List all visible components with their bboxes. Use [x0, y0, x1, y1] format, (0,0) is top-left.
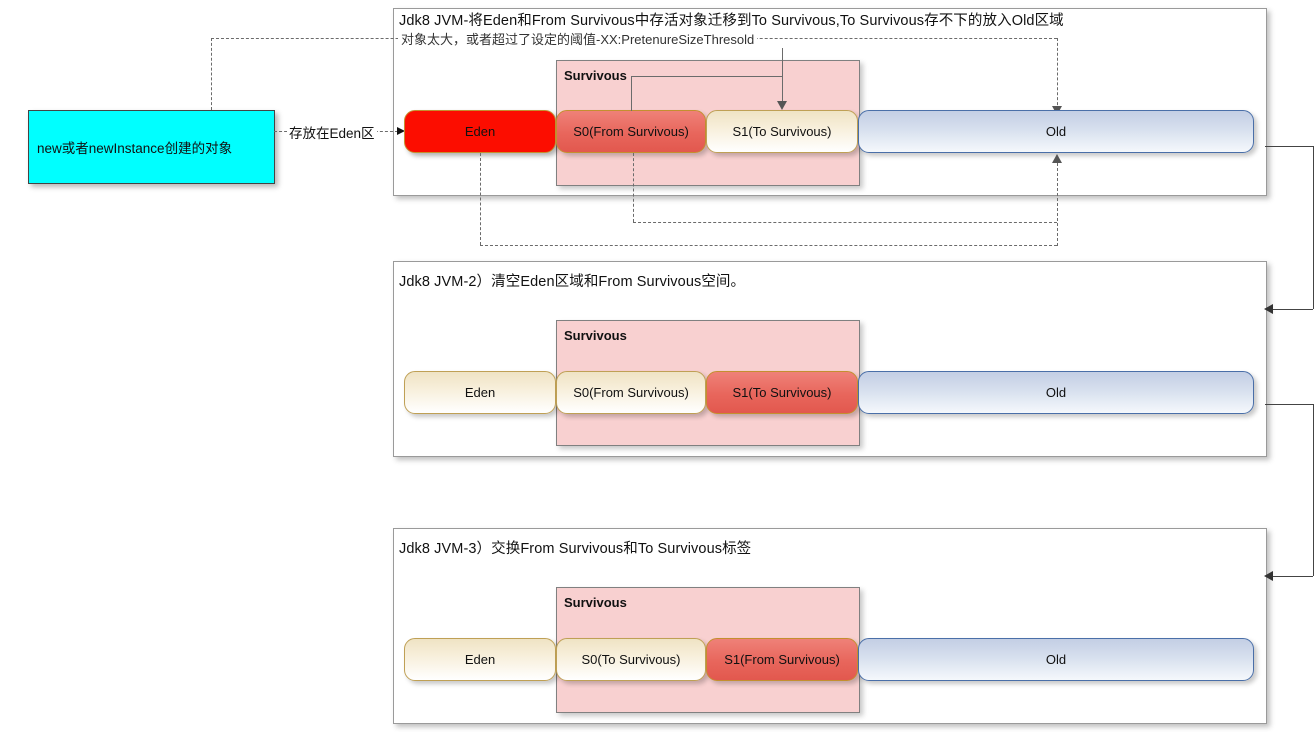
region-s0-1-label: S0(From Survivous) [573, 124, 689, 139]
region-eden-3-label: Eden [465, 652, 495, 667]
s0-overflow-horizontal [633, 222, 1057, 223]
region-old-2-label: Old [1046, 385, 1066, 400]
region-old-3: Old [858, 638, 1254, 681]
region-eden-3: Eden [404, 638, 556, 681]
s0-to-s1-riser [631, 76, 632, 111]
source-to-eden-label: 存放在Eden区 [287, 122, 377, 142]
step2-to-step3-riser [1313, 404, 1314, 576]
survivous-label-2: Survivous [564, 328, 627, 343]
region-s0-3-label: S0(To Survivous) [582, 652, 681, 667]
region-eden-1: Eden [404, 110, 556, 153]
source-object-box: new或者newInstance创建的对象 [28, 110, 275, 184]
region-s1-2: S1(To Survivous) [706, 371, 858, 414]
s0-overflow-vertical [633, 153, 634, 222]
region-old-1: Old [858, 110, 1254, 153]
panel-3-title: Jdk8 JVM-3）交换From Survivous和To Survivous… [399, 537, 751, 558]
panel-1-title: Jdk8 JVM-将Eden和From Survivous中存活对象迁移到To … [399, 9, 1064, 30]
region-eden-2-label: Eden [465, 385, 495, 400]
panel-2-title: Jdk8 JVM-2）清空Eden区域和From Survivous空间。 [399, 270, 745, 291]
region-old-3-label: Old [1046, 652, 1066, 667]
survivous-label-1: Survivous [564, 68, 627, 83]
step1-to-step2-riser [1313, 146, 1314, 309]
threshold-note-label: 对象太大，或者超过了设定的阈值-XX:PretenureSizeThresold [398, 29, 757, 48]
eden-overflow-horizontal [480, 245, 1057, 246]
region-eden-2: Eden [404, 371, 556, 414]
step1-to-step2-top [1265, 146, 1313, 147]
source-object-label: new或者newInstance创建的对象 [29, 137, 232, 157]
threshold-dash-vertical-right [1057, 38, 1058, 110]
diagram-canvas: Jdk8 JVM-将Eden和From Survivous中存活对象迁移到To … [0, 0, 1315, 732]
region-eden-1-label: Eden [465, 124, 495, 139]
region-s1-3: S1(From Survivous) [706, 638, 858, 681]
region-s1-2-label: S1(To Survivous) [733, 385, 832, 400]
overflow-riser-to-old [1057, 163, 1058, 246]
region-old-1-label: Old [1046, 124, 1066, 139]
s1-incoming-vertical [782, 48, 783, 106]
region-old-2: Old [858, 371, 1254, 414]
region-s0-1: S0(From Survivous) [556, 110, 706, 153]
step2-to-step3-bottom [1272, 576, 1313, 577]
s0-to-s1-arrowhead [777, 101, 787, 110]
region-s0-2-label: S0(From Survivous) [573, 385, 689, 400]
region-s1-3-label: S1(From Survivous) [724, 652, 840, 667]
step2-to-step3-top [1265, 404, 1313, 405]
overflow-arrow-into-old [1052, 154, 1062, 163]
region-s1-1: S1(To Survivous) [706, 110, 858, 153]
step1-to-step2-arrowhead [1264, 304, 1273, 314]
region-s0-3: S0(To Survivous) [556, 638, 706, 681]
step2-to-step3-arrowhead [1264, 571, 1273, 581]
threshold-dash-vertical-left [211, 38, 212, 110]
region-s1-1-label: S1(To Survivous) [733, 124, 832, 139]
s0-to-s1-horizontal [631, 76, 783, 77]
eden-overflow-vertical [480, 153, 481, 245]
region-s0-2: S0(From Survivous) [556, 371, 706, 414]
step1-to-step2-bottom [1272, 309, 1313, 310]
survivous-label-3: Survivous [564, 595, 627, 610]
